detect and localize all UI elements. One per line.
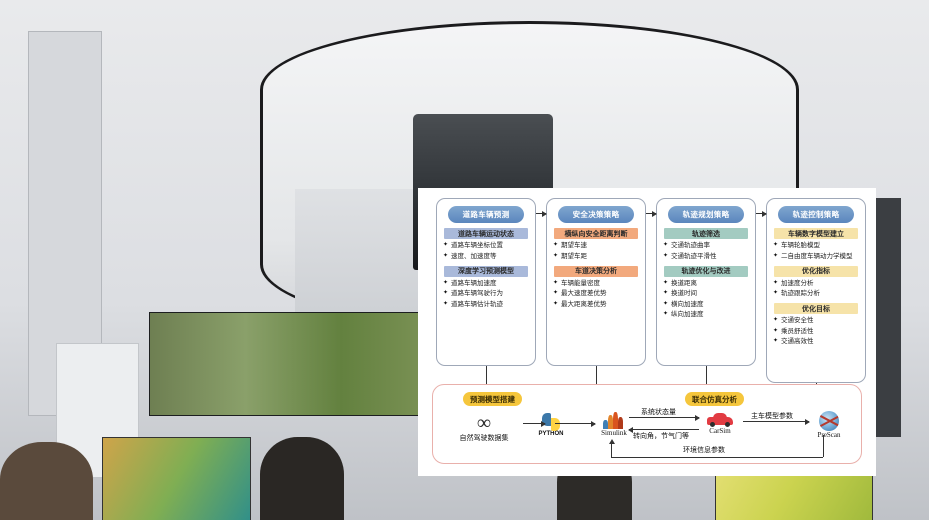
- flow-bullet: ✦交通高效性: [767, 337, 865, 346]
- flow-edge-state: [629, 417, 699, 418]
- edge-label: 环境信息参数: [683, 445, 725, 455]
- flow-bullet: ✦二自由度车辆动力学模型: [767, 252, 865, 261]
- flow-bullet: ✦轨迹跟踪分析: [767, 289, 865, 298]
- diamond-bullet-icon: ✦: [443, 252, 448, 261]
- flow-arrow-vertical: [596, 366, 597, 384]
- flow-column-header: 轨迹控制策略: [778, 206, 854, 223]
- diamond-bullet-icon: ✦: [443, 279, 448, 288]
- diamond-bullet-icon: ✦: [443, 241, 448, 250]
- infinity-logo-icon: ∞: [447, 413, 521, 433]
- diamond-bullet-icon: ✦: [443, 300, 448, 309]
- flow-section-title: 道路车辆运动状态: [444, 228, 528, 239]
- flow-column-header: 安全决策策略: [558, 206, 634, 223]
- diamond-bullet-icon: ✦: [553, 241, 558, 250]
- edge-label: 系统状态量: [641, 407, 676, 417]
- diamond-bullet-icon: ✦: [773, 289, 778, 298]
- flow-bullet: ✦速度、加速度等: [437, 252, 535, 261]
- flow-arrow-horizontal: [756, 213, 766, 214]
- flow-column-decision: 安全决策策略 横纵向安全距离判断 ✦期望车速 ✦期望车距 车道决策分析 ✦车辆能…: [546, 198, 646, 366]
- simulink-logo-icon: [603, 412, 625, 429]
- diamond-bullet-icon: ✦: [663, 310, 668, 319]
- flow-bullet: ✦交通轨迹平滑性: [657, 252, 755, 261]
- diamond-bullet-icon: ✦: [443, 289, 448, 298]
- flow-section-title: 横纵向安全距离判断: [554, 228, 638, 239]
- flow-column-control: 轨迹控制策略 车辆数字模型建立 ✦车辆轮胎模型 ✦二自由度车辆动力学模型 优化指…: [766, 198, 866, 383]
- flow-arrow-vertical: [706, 366, 707, 384]
- node-simulink: Simulink: [589, 412, 639, 437]
- flow-edge-control: [629, 429, 699, 430]
- flow-edge: [555, 423, 595, 424]
- diamond-bullet-icon: ✦: [773, 241, 778, 250]
- flow-arrow-horizontal: [536, 213, 546, 214]
- flow-column-prediction: 道路车辆预测 道路车辆运动状态 ✦道路车辆坐标位置 ✦速度、加速度等 深度学习预…: [436, 198, 536, 366]
- flow-bullet: ✦车辆轮胎模型: [767, 241, 865, 250]
- flow-bullet: ✦纵向加速度: [657, 310, 755, 319]
- node-carsim: CarSim: [695, 413, 745, 435]
- diamond-bullet-icon: ✦: [663, 300, 668, 309]
- edge-label: 转向角，节气门等: [633, 431, 689, 441]
- flow-column-planning: 轨迹规划策略 轨迹筛选 ✦交通轨迹曲率 ✦交通轨迹平滑性 轨迹优化与改进 ✦换道…: [656, 198, 756, 366]
- diamond-bullet-icon: ✦: [663, 289, 668, 298]
- pipeline-tag: 联合仿真分析: [685, 392, 744, 406]
- flow-bullet: ✦道路车辆驾驶行为: [437, 289, 535, 298]
- flow-bullet: ✦换道时间: [657, 289, 755, 298]
- diamond-bullet-icon: ✦: [553, 252, 558, 261]
- car-icon: [707, 413, 733, 427]
- flow-bullet: ✦交通轨迹曲率: [657, 241, 755, 250]
- flow-edge: [523, 423, 545, 424]
- flow-section-title: 车辆数字模型建立: [774, 228, 858, 239]
- diamond-bullet-icon: ✦: [773, 316, 778, 325]
- diamond-bullet-icon: ✦: [663, 279, 668, 288]
- flow-section-title: 轨迹优化与改进: [664, 266, 748, 277]
- flow-bullet: ✦车辆能量密度: [547, 279, 645, 288]
- prescan-logo-icon: [819, 411, 839, 431]
- slide-root: 智能车辆安全与控制 面向现代汽车结构的主被动 安全一体化设计技术： 获省科技进步…: [0, 0, 929, 520]
- node-python: PYTHON: [528, 413, 574, 437]
- diamond-bullet-icon: ✦: [553, 289, 558, 298]
- diamond-bullet-icon: ✦: [553, 279, 558, 288]
- flow-section-title: 轨迹筛选: [664, 228, 748, 239]
- diamond-bullet-icon: ✦: [773, 337, 778, 346]
- flow-section-title: 车道决策分析: [554, 266, 638, 277]
- flow-column-header: 轨迹规划策略: [668, 206, 744, 223]
- diamond-bullet-icon: ✦: [773, 252, 778, 261]
- flow-arrow-horizontal: [646, 213, 656, 214]
- diamond-bullet-icon: ✦: [663, 252, 668, 261]
- diamond-bullet-icon: ✦: [773, 279, 778, 288]
- flow-bullet: ✦换道距离: [657, 279, 755, 288]
- flow-bullet: ✦道路车辆加速度: [437, 279, 535, 288]
- simulation-pipeline: 预测模型搭建 联合仿真分析 ∞ 自然驾驶数据集 PYTHON Simulink: [432, 384, 862, 464]
- flow-section-title: 优化指标: [774, 266, 858, 277]
- flow-bullet: ✦期望车速: [547, 241, 645, 250]
- strategy-flowchart: 道路车辆预测 道路车辆运动状态 ✦道路车辆坐标位置 ✦速度、加速度等 深度学习预…: [418, 188, 876, 476]
- flow-section-title: 深度学习预测模型: [444, 266, 528, 277]
- flow-bullet: ✦加速度分析: [767, 279, 865, 288]
- flow-arrow-vertical: [486, 366, 487, 384]
- diamond-bullet-icon: ✦: [553, 300, 558, 309]
- flow-bullet: ✦最大速度差优势: [547, 289, 645, 298]
- flow-bullet: ✦最大距离差优势: [547, 300, 645, 309]
- flow-column-header: 道路车辆预测: [448, 206, 524, 223]
- flow-bullet: ✦交通安全性: [767, 316, 865, 325]
- driving-simulator-lab-photo: [0, 0, 352, 125]
- flow-section-title: 优化目标: [774, 303, 858, 314]
- flow-bullet: ✦道路车辆估计轨迹: [437, 300, 535, 309]
- flow-bullet: ✦乘员舒适性: [767, 327, 865, 336]
- flow-bullet: ✦横向加速度: [657, 300, 755, 309]
- edge-label: 主车模型参数: [751, 411, 793, 421]
- node-prescan: PreScan: [805, 411, 853, 439]
- node-dataset: ∞ 自然驾驶数据集: [447, 413, 521, 443]
- diamond-bullet-icon: ✦: [773, 327, 778, 336]
- flow-edge-vehicle-model: [743, 421, 809, 422]
- flow-bullet: ✦道路车辆坐标位置: [437, 241, 535, 250]
- diamond-bullet-icon: ✦: [663, 241, 668, 250]
- flow-bullet: ✦期望车距: [547, 252, 645, 261]
- pipeline-tag: 预测模型搭建: [463, 392, 522, 406]
